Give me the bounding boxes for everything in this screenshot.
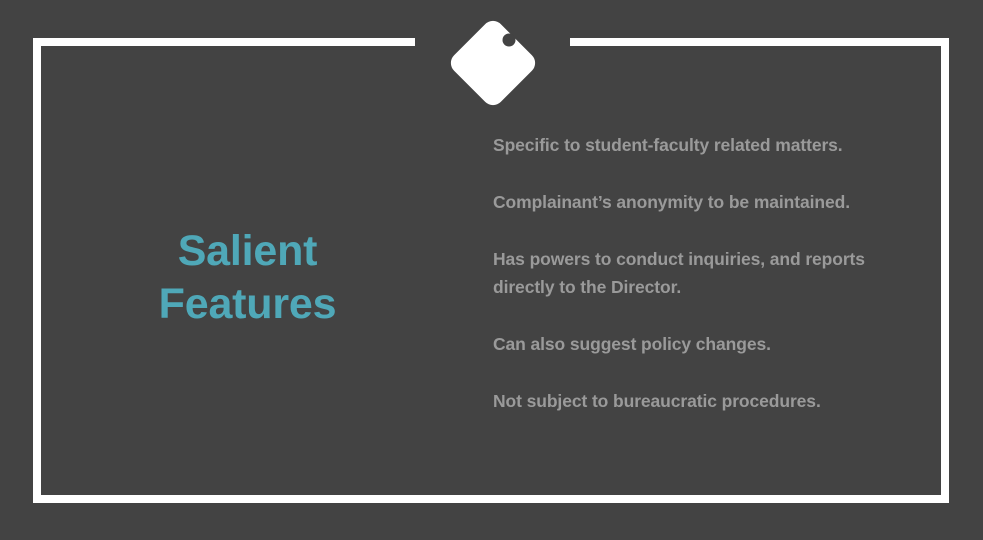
frame-border-left xyxy=(33,38,41,503)
frame-border-bottom xyxy=(33,495,949,503)
tag-icon xyxy=(447,17,539,109)
list-item: Can also suggest policy changes. xyxy=(493,330,923,358)
page-title-line-1: Salient xyxy=(60,225,435,278)
frame-border-right xyxy=(941,38,949,503)
salient-features-list: Specific to student-faculty related matt… xyxy=(493,131,923,415)
frame-border-top-left xyxy=(33,38,415,46)
slide-canvas: Salient Features Specific to student-fac… xyxy=(0,0,983,540)
list-item: Has powers to conduct inquiries, and rep… xyxy=(493,245,923,301)
page-title-line-2: Features xyxy=(60,278,435,331)
list-item: Specific to student-faculty related matt… xyxy=(493,131,923,159)
list-item: Complainant’s anonymity to be maintained… xyxy=(493,188,923,216)
list-item: Not subject to bureaucratic procedures. xyxy=(493,387,923,415)
frame-border-top-right xyxy=(570,38,949,46)
page-title: Salient Features xyxy=(60,225,435,331)
